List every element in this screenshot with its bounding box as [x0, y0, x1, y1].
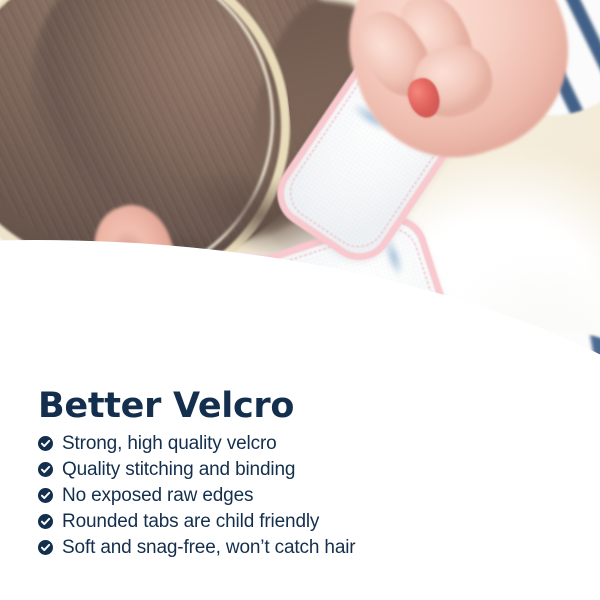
feature-content: Better Velcro Strong, high quality velcr… — [38, 388, 558, 563]
list-item-label: No exposed raw edges — [62, 485, 253, 506]
page-title: Better Velcro — [38, 388, 558, 425]
list-item: Quality stitching and binding — [38, 459, 558, 480]
list-item: Strong, high quality velcro — [38, 433, 558, 454]
check-circle-icon — [38, 488, 53, 503]
check-circle-icon — [38, 540, 53, 555]
list-item-label: Quality stitching and binding — [62, 459, 295, 480]
product-feature-card: Better Velcro Strong, high quality velcr… — [0, 0, 600, 600]
list-item-label: Rounded tabs are child friendly — [62, 511, 319, 532]
list-item: Soft and snag-free, won’t catch hair — [38, 537, 558, 558]
check-circle-icon — [38, 514, 53, 529]
list-item: No exposed raw edges — [38, 485, 558, 506]
check-circle-icon — [38, 436, 53, 451]
feature-list: Strong, high quality velcro Quality stit… — [38, 433, 558, 558]
list-item-label: Soft and snag-free, won’t catch hair — [62, 537, 356, 558]
list-item: Rounded tabs are child friendly — [38, 511, 558, 532]
check-circle-icon — [38, 462, 53, 477]
list-item-label: Strong, high quality velcro — [62, 433, 277, 454]
